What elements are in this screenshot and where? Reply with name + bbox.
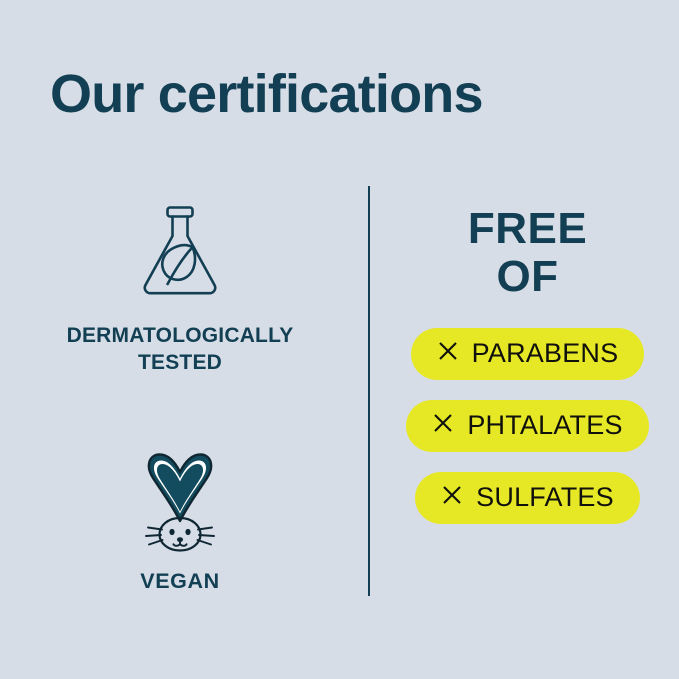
free-of-item-label: PHTALATES <box>467 410 622 441</box>
free-of-item-parabens: PARABENS <box>411 328 645 380</box>
free-of-item-label: SULFATES <box>476 482 614 513</box>
free-of-item-sulfates: SULFATES <box>415 472 640 524</box>
column-divider <box>368 186 370 596</box>
free-of-section: FREE OF PARABENS PHTALATES <box>395 205 660 524</box>
free-of-list: PARABENS PHTALATES SULFATES <box>395 328 660 524</box>
x-mark-icon <box>437 340 459 367</box>
flask-leaf-icon <box>134 200 226 309</box>
certification-label: DERMATOLOGICALLY TESTED <box>67 323 294 377</box>
certification-item-vegan: VEGAN <box>20 451 340 596</box>
free-of-item-label: PARABENS <box>472 338 619 369</box>
x-mark-icon <box>441 484 463 511</box>
bunny-heart-ears-icon <box>126 451 234 560</box>
x-mark-icon <box>432 412 454 439</box>
certifications-panel: Our certifications DERMATOLOGICALLY TEST… <box>0 0 679 679</box>
page-title: Our certifications <box>50 63 483 125</box>
free-of-heading: FREE OF <box>468 205 587 302</box>
certification-item-dermatologically-tested: DERMATOLOGICALLY TESTED <box>20 200 340 377</box>
certifications-list: DERMATOLOGICALLY TESTED <box>20 186 340 598</box>
free-of-item-phtalates: PHTALATES <box>406 400 648 452</box>
certification-label: VEGAN <box>140 568 219 596</box>
